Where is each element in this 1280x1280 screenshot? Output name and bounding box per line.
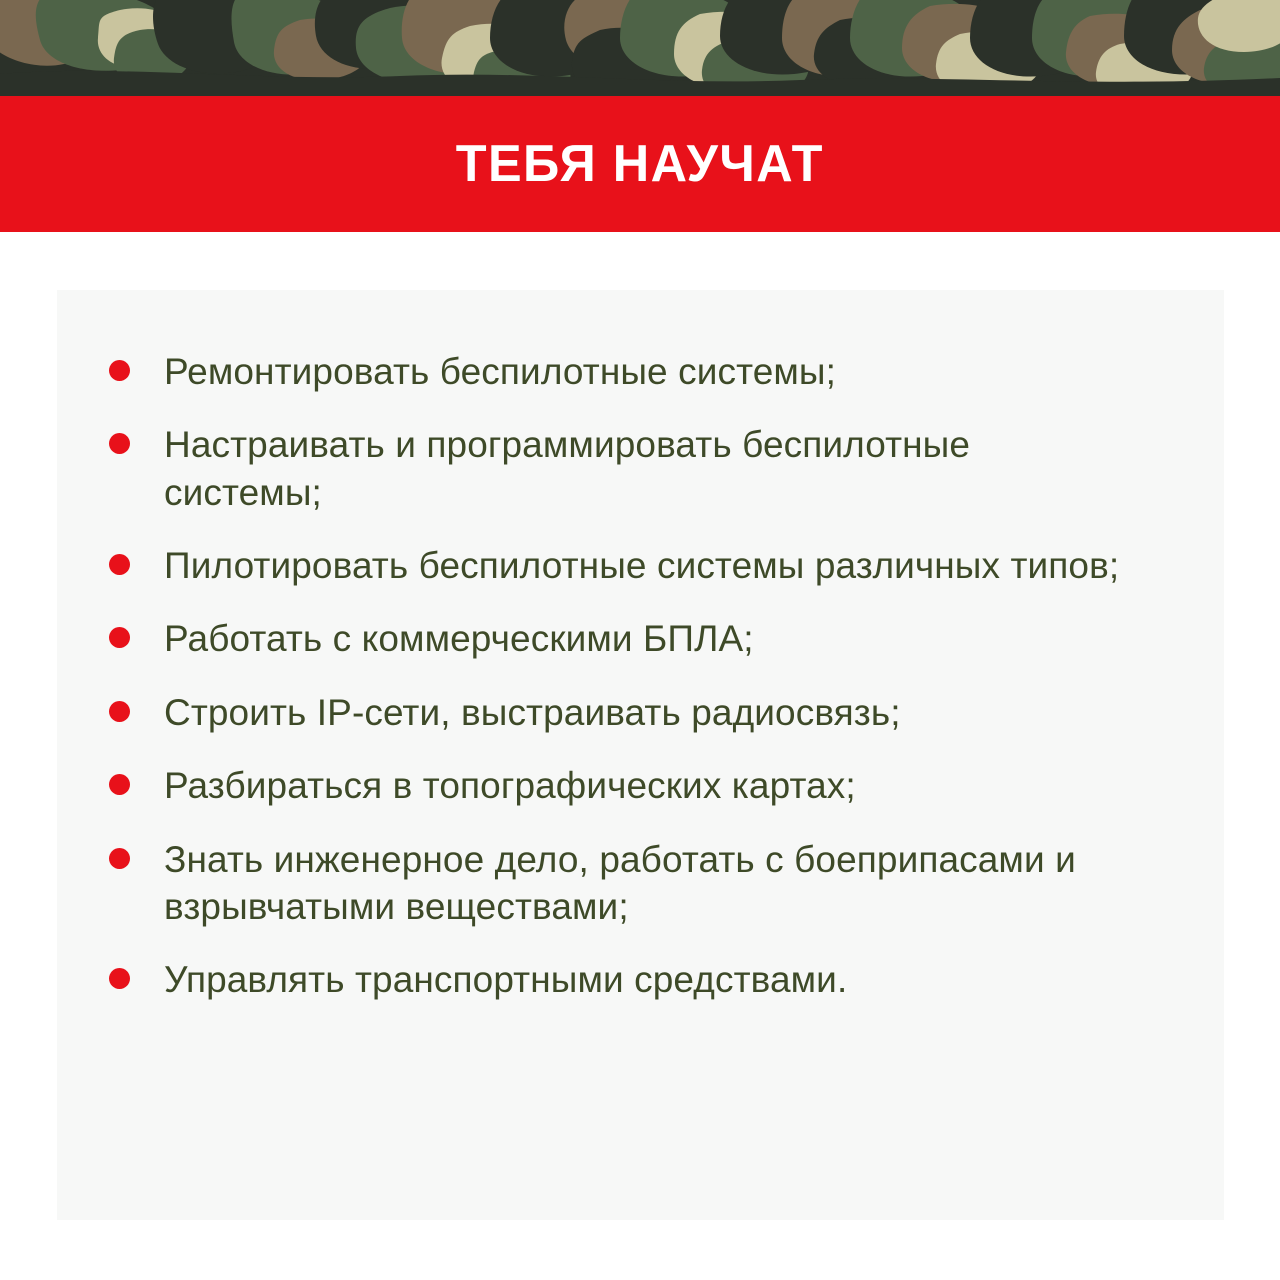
bullet-dot-icon (109, 360, 130, 381)
list-item: Разбираться в топографических картах; (109, 762, 1184, 809)
bullet-dot-icon (109, 433, 130, 454)
list-item-label: Строить IP-сети, выстраивать радиосвязь; (164, 689, 1184, 736)
bullet-dot-icon (109, 627, 130, 648)
page-title: ТЕБЯ НАУЧАТ (456, 138, 824, 190)
list-item-label: Работать с коммерческими БПЛА; (164, 615, 1184, 662)
bullet-dot-icon (109, 701, 130, 722)
poster-root: ТЕБЯ НАУЧАТ Ремонтировать беспилотные си… (0, 0, 1280, 1280)
list-item-label: Управлять транспортными средствами. (164, 956, 1184, 1003)
bullet-dot-icon (109, 848, 130, 869)
list-item: Работать с коммерческими БПЛА; (109, 615, 1184, 662)
list-item: Знать инженерное дело, работать с боепри… (109, 836, 1184, 931)
skills-list: Ремонтировать беспилотные системы; Настр… (109, 348, 1184, 1004)
bullet-dot-icon (109, 774, 130, 795)
list-item-label: Пилотировать беспилотные системы различн… (164, 542, 1149, 589)
list-item-label: Ремонтировать беспилотные системы; (164, 348, 1184, 395)
list-item-label: Разбираться в топографических картах; (164, 762, 1184, 809)
skills-card: Ремонтировать беспилотные системы; Настр… (57, 290, 1224, 1220)
list-item-label: Настраивать и программировать беспилотны… (164, 421, 1124, 516)
list-item: Ремонтировать беспилотные системы; (109, 348, 1184, 395)
camouflage-banner (0, 0, 1280, 96)
list-item: Настраивать и программировать беспилотны… (109, 421, 1184, 516)
bullet-dot-icon (109, 968, 130, 989)
list-item: Управлять транспортными средствами. (109, 956, 1184, 1003)
list-item: Пилотировать беспилотные системы различн… (109, 542, 1184, 589)
bullet-dot-icon (109, 554, 130, 575)
list-item: Строить IP-сети, выстраивать радиосвязь; (109, 689, 1184, 736)
list-item-label: Знать инженерное дело, работать с боепри… (164, 836, 1149, 931)
title-band: ТЕБЯ НАУЧАТ (0, 96, 1280, 232)
